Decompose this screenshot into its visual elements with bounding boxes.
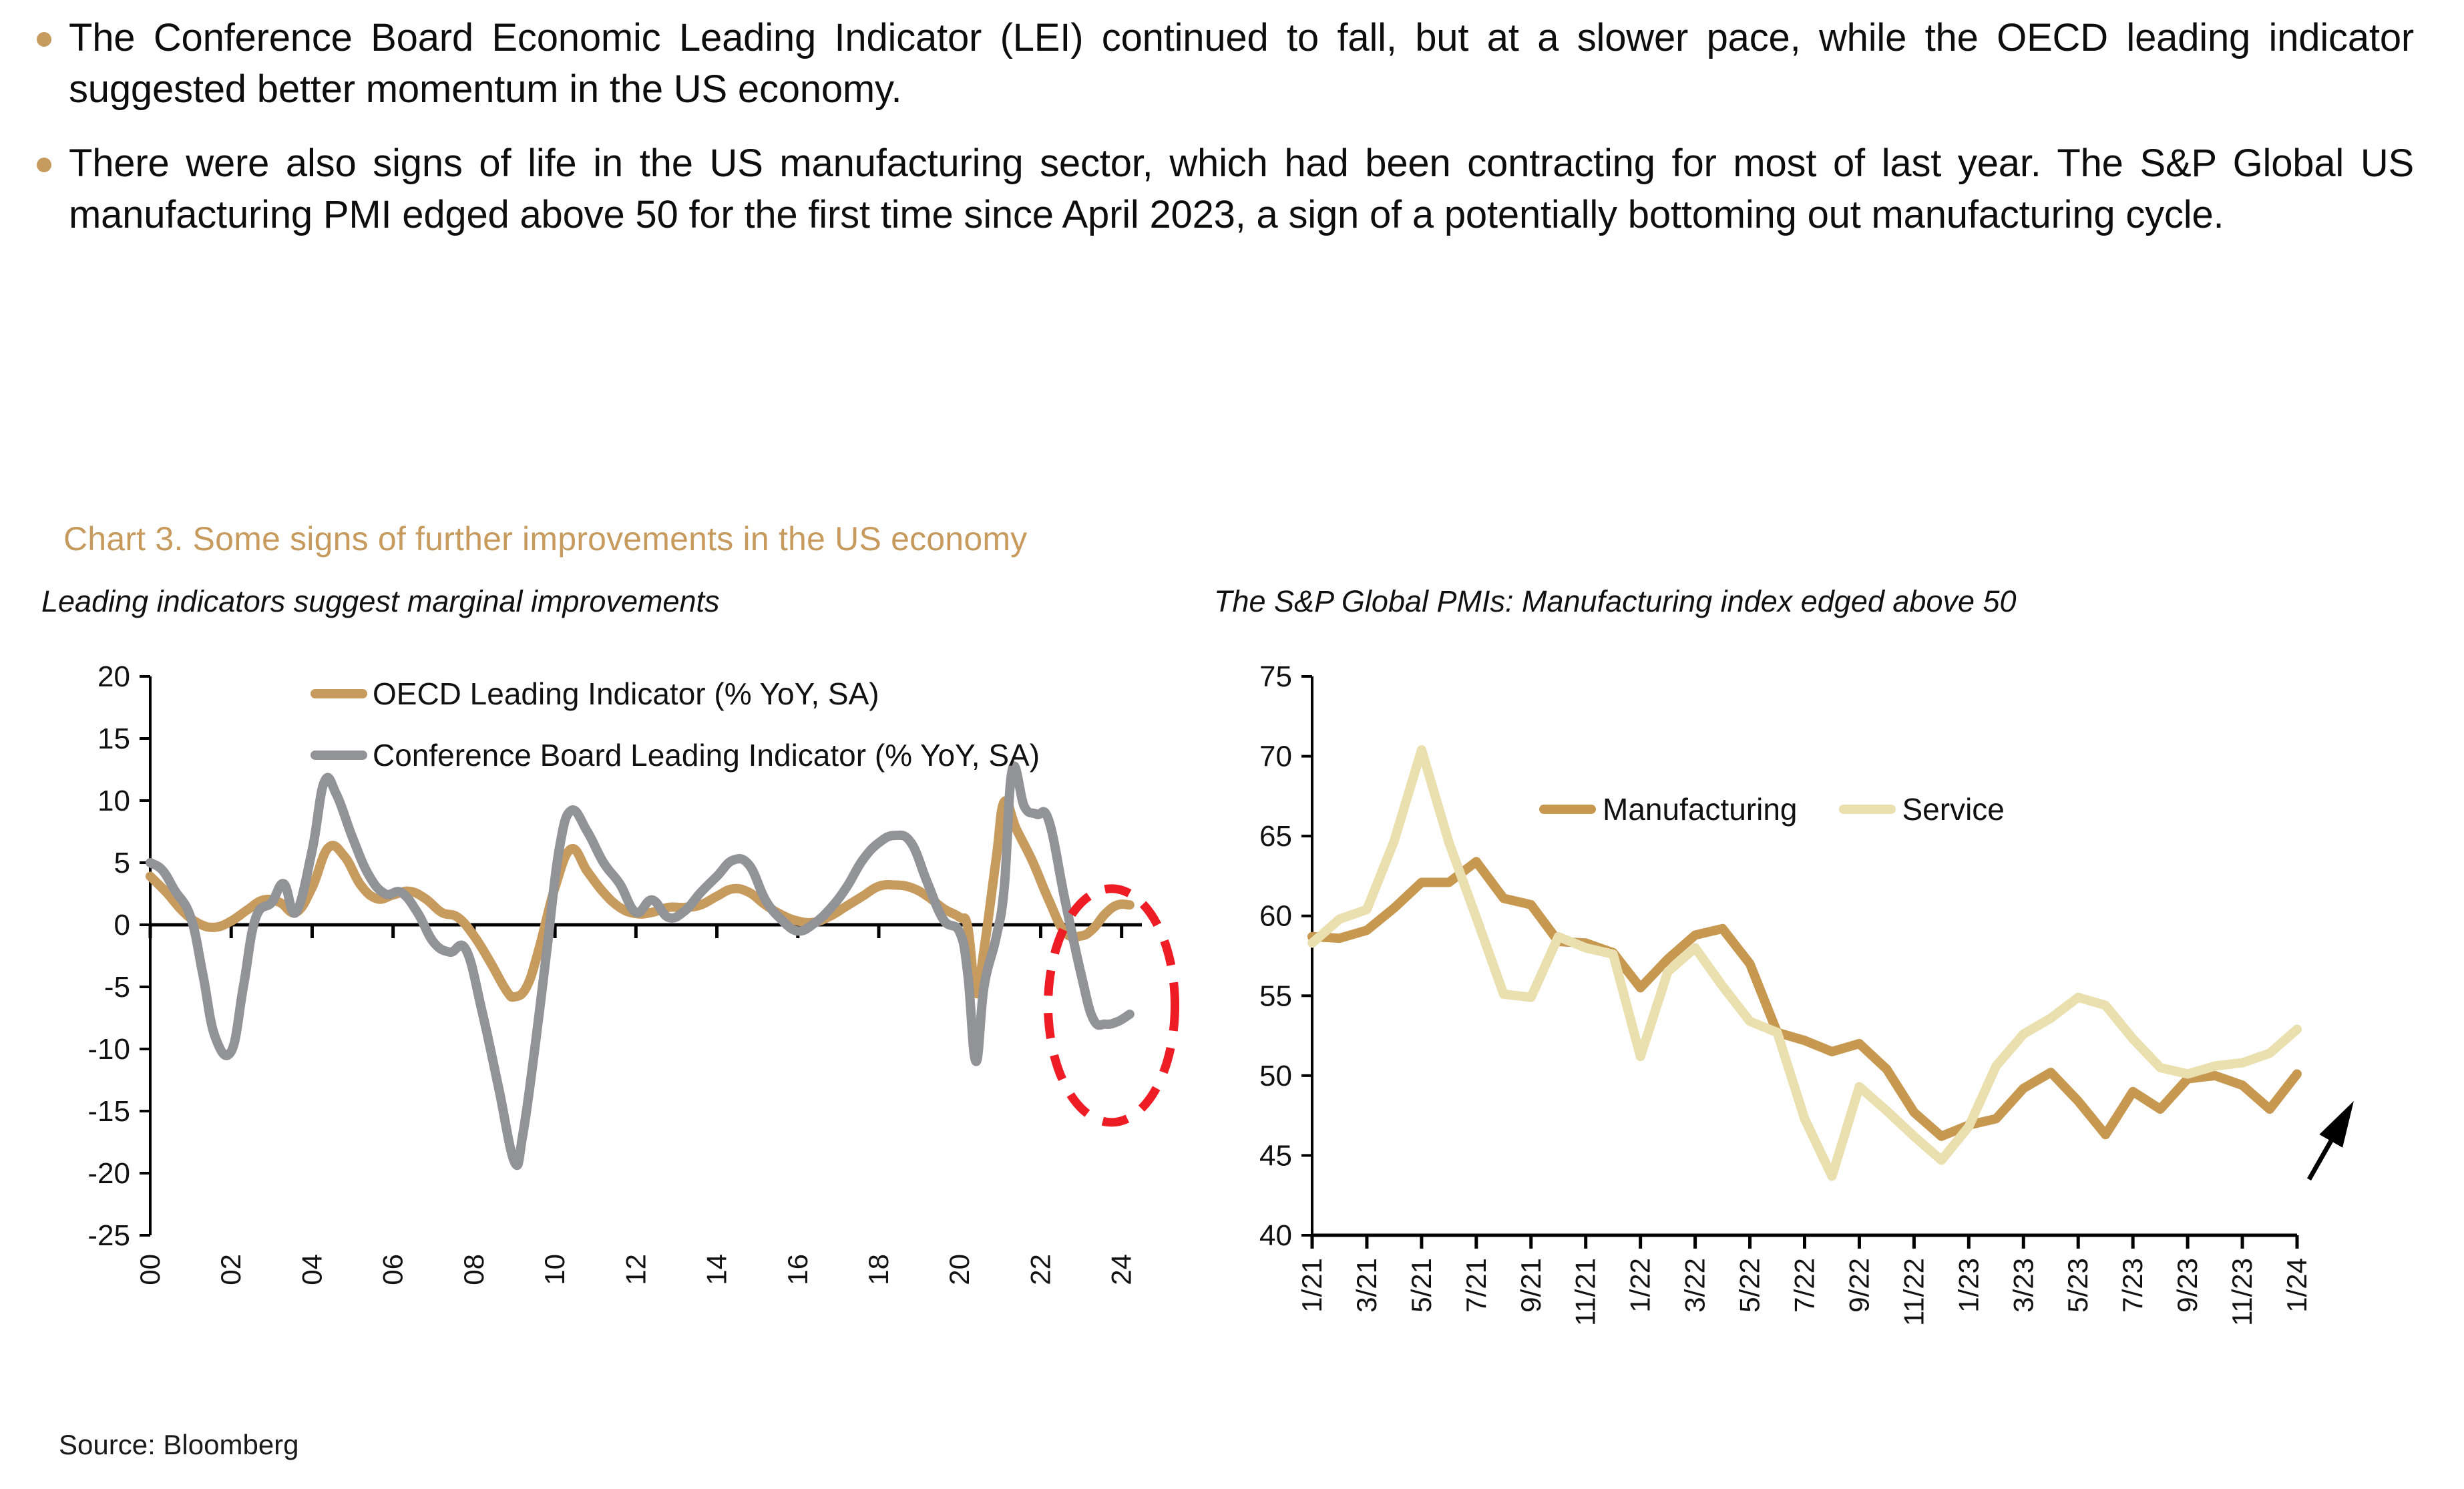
x-axis-tick-label: 20 bbox=[944, 1254, 975, 1285]
x-axis-tick-label: 00 bbox=[134, 1254, 166, 1285]
legend-item-service: Service bbox=[1839, 791, 2005, 827]
bullet-dot-icon bbox=[37, 32, 51, 47]
y-axis-tick-label: 50 bbox=[1259, 1060, 1292, 1092]
left-chart-panel: 20151050-5-10-15-20-25000204060810121416… bbox=[33, 664, 1169, 1412]
x-axis-tick-label: 5/23 bbox=[2062, 1258, 2093, 1313]
legend-swatch-conference-board bbox=[311, 751, 367, 760]
y-axis-tick-label: -15 bbox=[87, 1095, 130, 1128]
bullet-dot-icon bbox=[37, 158, 51, 172]
x-axis-tick-label: 7/22 bbox=[1789, 1258, 1820, 1313]
x-axis-tick-label: 18 bbox=[863, 1254, 894, 1285]
x-axis-tick-label: 04 bbox=[296, 1254, 327, 1285]
legend-label-service: Service bbox=[1902, 791, 2005, 827]
x-axis-tick-label: 16 bbox=[782, 1254, 813, 1285]
right-chart-svg: 75706560555045401/213/215/217/219/2111/2… bbox=[1195, 664, 2324, 1412]
left-chart-subtitle: Leading indicators suggest marginal impr… bbox=[41, 584, 720, 619]
chart-title: Chart 3. Some signs of further improveme… bbox=[63, 519, 1027, 558]
x-axis-tick-label: 5/21 bbox=[1406, 1258, 1437, 1313]
legend-item-conference-board: Conference Board Leading Indicator (% Yo… bbox=[311, 737, 1040, 773]
left-chart-legend: OECD Leading Indicator (% YoY, SA) Confe… bbox=[311, 676, 1040, 773]
x-axis-tick-label: 7/23 bbox=[2117, 1258, 2148, 1313]
y-axis-tick-label: 45 bbox=[1259, 1139, 1292, 1172]
y-axis-tick-label: -20 bbox=[87, 1157, 130, 1190]
legend-swatch-oecd bbox=[311, 689, 367, 698]
bullet-text: There were also signs of life in the US … bbox=[69, 138, 2414, 240]
x-axis-tick-label: 06 bbox=[377, 1254, 409, 1285]
legend-item-oecd: OECD Leading Indicator (% YoY, SA) bbox=[311, 676, 1040, 712]
legend-label-manufacturing: Manufacturing bbox=[1603, 791, 1798, 827]
source-note: Source: Bloomberg bbox=[59, 1429, 299, 1461]
y-axis-tick-label: 10 bbox=[97, 785, 130, 817]
y-axis-tick-label: -10 bbox=[87, 1033, 130, 1066]
legend-label-oecd: OECD Leading Indicator (% YoY, SA) bbox=[373, 676, 879, 712]
y-axis-tick-label: 65 bbox=[1259, 820, 1292, 853]
y-axis-tick-label: 70 bbox=[1259, 740, 1292, 773]
annotation-arrow bbox=[2309, 1101, 2354, 1179]
x-axis-tick-label: 9/22 bbox=[1843, 1258, 1874, 1313]
series-line-manufacturing bbox=[1312, 861, 2297, 1136]
x-axis-tick-label: 1/21 bbox=[1296, 1258, 1327, 1313]
bullet-list: The Conference Board Economic Leading In… bbox=[37, 12, 2414, 264]
x-axis-tick-label: 5/22 bbox=[1734, 1258, 1766, 1313]
x-axis-tick-label: 3/22 bbox=[1679, 1258, 1711, 1313]
list-item: The Conference Board Economic Leading In… bbox=[37, 12, 2414, 115]
x-axis-tick-label: 11/22 bbox=[1898, 1258, 1929, 1326]
bullet-text: The Conference Board Economic Leading In… bbox=[69, 12, 2414, 115]
right-chart-panel: 75706560555045401/213/215/217/219/2111/2… bbox=[1195, 664, 2324, 1412]
x-axis-tick-label: 11/21 bbox=[1570, 1258, 1601, 1326]
x-axis-tick-label: 1/22 bbox=[1625, 1258, 1656, 1313]
y-axis-tick-label: 40 bbox=[1259, 1219, 1292, 1252]
y-axis-tick-label: 15 bbox=[97, 722, 130, 755]
x-axis-tick-label: 12 bbox=[620, 1254, 651, 1285]
legend-swatch-manufacturing bbox=[1539, 805, 1596, 814]
x-axis-tick-label: 3/23 bbox=[2007, 1258, 2039, 1313]
y-axis-tick-label: 0 bbox=[114, 909, 130, 941]
y-axis-tick-label: 5 bbox=[114, 847, 130, 879]
y-axis-tick-label: -25 bbox=[87, 1219, 130, 1252]
x-axis-tick-label: 1/24 bbox=[2281, 1258, 2312, 1313]
y-axis-tick-label: -5 bbox=[104, 971, 130, 1004]
left-chart-svg: 20151050-5-10-15-20-25000204060810121416… bbox=[33, 664, 1169, 1412]
list-item: There were also signs of life in the US … bbox=[37, 138, 2414, 240]
x-axis-tick-label: 3/21 bbox=[1351, 1258, 1382, 1313]
legend-swatch-service bbox=[1839, 805, 1896, 814]
legend-item-manufacturing: Manufacturing bbox=[1539, 791, 1798, 827]
right-chart-subtitle: The S&P Global PMIs: Manufacturing index… bbox=[1214, 584, 2017, 619]
legend-label-conference-board: Conference Board Leading Indicator (% Yo… bbox=[373, 737, 1040, 773]
x-axis-tick-label: 9/23 bbox=[2172, 1258, 2203, 1313]
y-axis-tick-label: 60 bbox=[1259, 900, 1292, 933]
x-axis-tick-label: 1/23 bbox=[1953, 1258, 1984, 1313]
right-chart-legend: Manufacturing Service bbox=[1539, 791, 2005, 827]
x-axis-tick-label: 14 bbox=[701, 1254, 733, 1285]
x-axis-tick-label: 10 bbox=[539, 1254, 570, 1285]
x-axis-tick-label: 22 bbox=[1024, 1254, 1056, 1285]
y-axis-tick-label: 20 bbox=[97, 660, 130, 693]
x-axis-tick-label: 7/21 bbox=[1460, 1258, 1492, 1313]
x-axis-tick-label: 11/23 bbox=[2226, 1258, 2258, 1326]
x-axis-tick-label: 08 bbox=[458, 1254, 489, 1285]
x-axis-tick-label: 02 bbox=[215, 1254, 246, 1285]
y-axis-tick-label: 55 bbox=[1259, 980, 1292, 1012]
y-axis-tick-label: 75 bbox=[1259, 660, 1292, 693]
x-axis-tick-label: 9/21 bbox=[1515, 1258, 1547, 1313]
x-axis-tick-label: 24 bbox=[1106, 1254, 1137, 1285]
